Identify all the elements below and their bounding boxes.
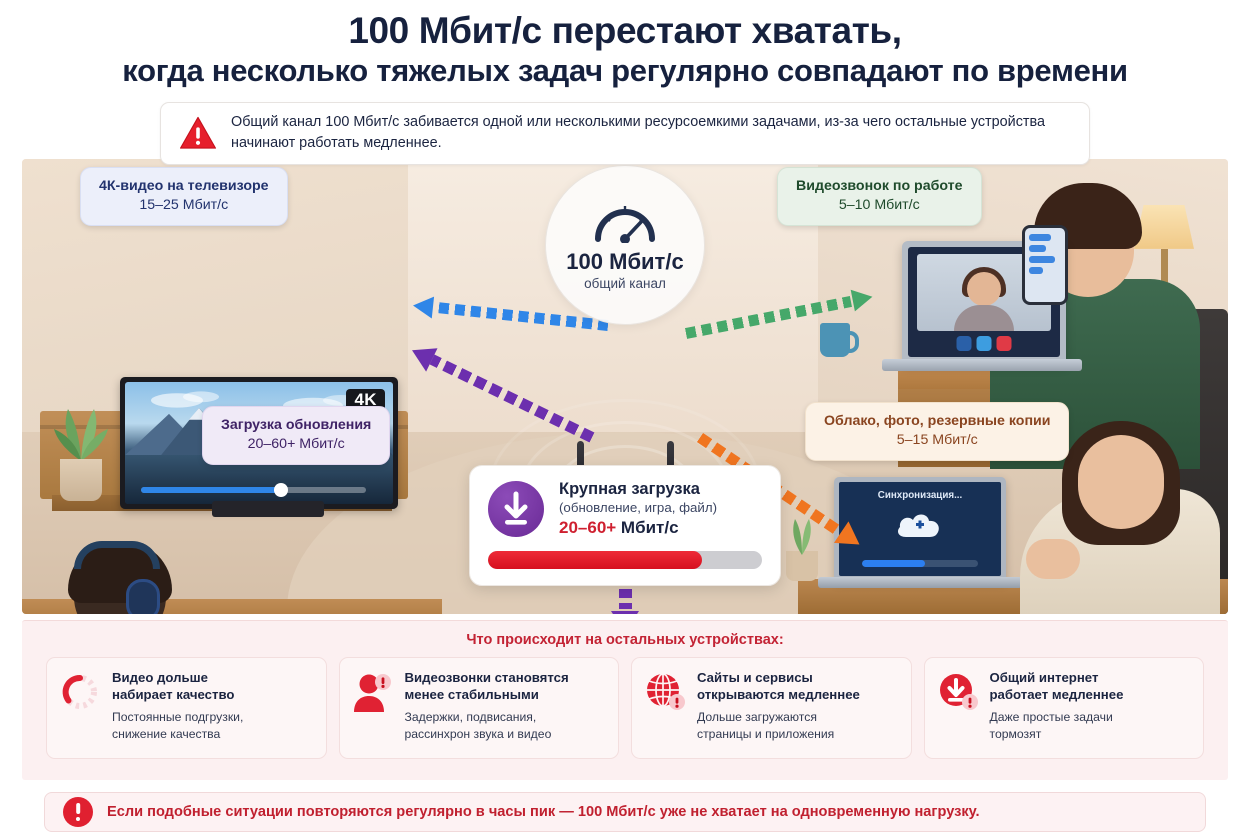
chip-update-download: Загрузка обновления 20–60+ Мбит/с [202, 406, 390, 465]
chip-title: 4К-видео на телевизоре [99, 177, 269, 195]
sync-progress-fill [862, 560, 925, 567]
download-rate-value: 20–60+ [559, 518, 616, 537]
consequences-heading: Что происходит на остальных устройствах: [22, 632, 1228, 648]
arrow-head [851, 286, 875, 311]
caller-torso [954, 305, 1014, 331]
page-header: 100 Мбит/с перестают хватать, когда неск… [0, 0, 1250, 94]
top-alert-banner: Общий канал 100 Мбит/с забивается одной … [160, 102, 1090, 165]
woman-hand [1026, 539, 1080, 579]
illustration-scene: 4K Загрузка обновления... 45% 12,6 ГБ из… [22, 159, 1228, 614]
sync-progress-bar [862, 560, 979, 567]
woman-head [1078, 435, 1164, 529]
footer-banner-text: Если подобные ситуации повторяются регул… [107, 804, 980, 820]
consequence-card-video-calls: Видеозвонки становятся менее стабильными… [339, 657, 620, 759]
sync-status-label: Синхронизация... [839, 490, 1001, 501]
chip-title: Загрузка обновления [221, 416, 371, 434]
download-rate-unit: Мбит/с [616, 518, 678, 537]
smartphone [1022, 225, 1068, 305]
alert-banner-text: Общий канал 100 Мбит/с забивается одной … [231, 112, 1069, 155]
bandwidth-gauge: 100 Мбит/с общий канал [545, 165, 705, 325]
phone-chat-line [1029, 234, 1051, 241]
download-card-title: Крупная загрузка [559, 480, 717, 499]
phone-chat-line [1029, 245, 1046, 252]
consequence-title-line-1: Общий интернет [990, 670, 1099, 685]
download-progress-fill [488, 551, 702, 569]
call-camera-button[interactable] [977, 336, 992, 351]
consequence-title-line-2: менее стабильными [405, 687, 539, 702]
buffering-spinner-icon [59, 671, 101, 713]
consequence-desc-line-2: снижение качества [112, 727, 220, 741]
work-laptop-base [882, 359, 1082, 371]
consequence-card-websites: Сайты и сервисы открываются медленнее До… [631, 657, 912, 759]
small-plant-pot [786, 551, 818, 581]
gauge-sublabel: общий канал [584, 276, 666, 291]
consequence-card-overall-internet: Общий интернет работает медленнее Даже п… [924, 657, 1205, 759]
exclamation-badge-icon [63, 797, 93, 827]
arrow-head [412, 294, 434, 318]
cloud-sync-screen: Синхронизация... [839, 482, 1001, 576]
cloud-sync-laptop-base [818, 577, 1022, 588]
download-progress-bar [488, 551, 762, 569]
download-alert-icon [937, 671, 979, 713]
consequence-card-video-quality: Видео дольше набирает качество Постоянны… [46, 657, 327, 759]
consequence-desc-line-1: Постоянные подгрузки, [112, 710, 243, 724]
consequence-desc: Постоянные подгрузки, снижение качества [112, 709, 243, 742]
gamer-person [30, 535, 212, 614]
tv-seek-fill [141, 487, 281, 493]
consequence-title-line-1: Сайты и сервисы [697, 670, 813, 685]
consequence-desc: Дольше загружаются страницы и приложения [697, 709, 860, 742]
chip-title: Облако, фото, резервные копии [824, 412, 1050, 430]
download-card-subtitle: (обновление, игра, файл) [559, 500, 717, 515]
consequence-desc-line-1: Дольше загружаются [697, 710, 817, 724]
phone-chat-line [1029, 267, 1043, 274]
chip-video-call: Видеозвонок по работе 5–10 Мбит/с [777, 167, 982, 226]
globe-alert-icon [644, 671, 686, 713]
speedometer-icon [592, 199, 658, 248]
call-hangup-button[interactable] [997, 336, 1012, 351]
plant-pot [60, 459, 102, 501]
headphone-earcup [126, 579, 160, 614]
plant-icon [48, 397, 114, 463]
chip-value: 5–15 Мбит/с [824, 431, 1050, 450]
tv-seek-bar[interactable] [141, 487, 366, 493]
call-info-button[interactable] [957, 336, 972, 351]
headphones-icon [74, 541, 160, 569]
call-controls[interactable] [957, 336, 1012, 351]
consequence-title-line-2: набирает качество [112, 687, 234, 702]
caller-face [967, 272, 1001, 306]
page-title-line-1: 100 Мбит/с перестают хватать, [20, 10, 1230, 51]
consequence-title-line-2: работает медленнее [990, 687, 1124, 702]
consequence-desc: Даже простые задачи тормозят [990, 709, 1124, 742]
page-title-line-2: когда несколько тяжелых задач регулярно … [20, 52, 1230, 89]
consequence-desc-line-1: Задержки, подвисания, [405, 710, 537, 724]
chip-cloud-backup: Облако, фото, резервные копии 5–15 Мбит/… [805, 402, 1069, 461]
footer-conclusion-banner: Если подобные ситуации повторяются регул… [44, 792, 1206, 832]
consequence-title: Сайты и сервисы открываются медленнее [697, 669, 860, 703]
consequences-grid: Видео дольше набирает качество Постоянны… [22, 657, 1228, 759]
coffee-mug [820, 323, 850, 357]
arrow-head [611, 611, 639, 614]
person-alert-icon [352, 671, 394, 713]
big-download-card: Крупная загрузка (обновление, игра, файл… [469, 465, 781, 586]
consequence-title: Видеозвонки становятся менее стабильными [405, 669, 569, 703]
consequence-desc-line-2: страницы и приложения [697, 727, 834, 741]
chip-value: 15–25 Мбит/с [99, 196, 269, 215]
consequence-title: Общий интернет работает медленнее [990, 669, 1124, 703]
soundbar [212, 501, 324, 517]
consequence-desc: Задержки, подвисания, рассинхрон звука и… [405, 709, 569, 742]
gauge-speed-value: 100 Мбит/с [566, 249, 683, 275]
chip-title: Видеозвонок по работе [796, 177, 963, 195]
download-card-rate: 20–60+ Мбит/с [559, 518, 717, 538]
tv-seek-knob[interactable] [274, 483, 288, 497]
consequence-desc-line-2: рассинхрон звука и видео [405, 727, 552, 741]
consequence-title-line-1: Видеозвонки становятся [405, 670, 569, 685]
chip-4k-video: 4К-видео на телевизоре 15–25 Мбит/с [80, 167, 288, 226]
consequence-title-line-2: открываются медленнее [697, 687, 860, 702]
cloud-upload-icon [894, 509, 946, 539]
consequences-section: Что происходит на остальных устройствах:… [22, 620, 1228, 780]
phone-chat-line [1029, 256, 1055, 263]
consequence-title: Видео дольше набирает качество [112, 669, 243, 703]
download-circle-icon [488, 481, 544, 537]
chip-value: 5–10 Мбит/с [796, 196, 963, 215]
warning-triangle-icon [179, 116, 217, 150]
consequence-desc-line-1: Даже простые задачи [990, 710, 1113, 724]
consequence-title-line-1: Видео дольше [112, 670, 208, 685]
consequence-desc-line-2: тормозят [990, 727, 1042, 741]
chip-value: 20–60+ Мбит/с [221, 435, 371, 454]
